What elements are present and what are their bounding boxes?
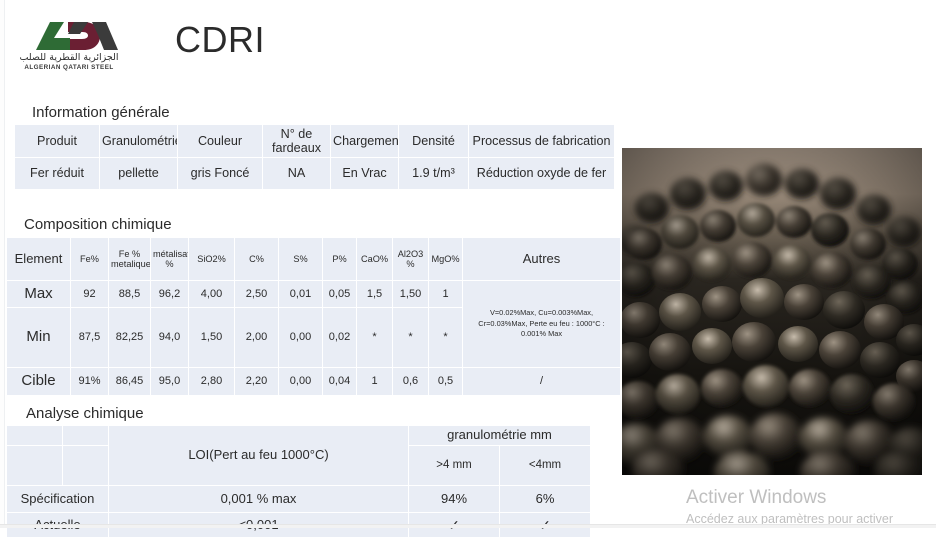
chem-header-element: Element	[7, 238, 71, 281]
chem-row-label-cible: Cible	[7, 368, 71, 396]
chem-autres-merged: V=0.02%Max, Cu=0.003%Max, Cr=0.03%Max, P…	[463, 281, 621, 368]
chem-cible-fe-metalique: 86,45	[109, 368, 151, 396]
chem-header-p: P%	[323, 238, 357, 281]
info-header-n-fardeaux: N° de fardeaux	[263, 125, 331, 158]
slide-bottom-bar	[0, 524, 936, 528]
chem-min-fe-metalique: 82,25	[109, 308, 151, 368]
logo-english-text: ALGERIAN QATARI STEEL	[14, 64, 124, 71]
chem-max-sio2: 4,00	[189, 281, 235, 308]
chem-header-fe: Fe%	[71, 238, 109, 281]
chem-header-cao: CaO%	[357, 238, 393, 281]
chem-row-label-min: Min	[7, 308, 71, 368]
table-row: Fer réduit pellette gris Foncé NA En Vra…	[15, 158, 615, 190]
company-logo: الجزائرية القطرية للصلب ALGERIAN QATARI …	[14, 18, 124, 76]
analyse-blank-a2	[7, 446, 63, 486]
analyse-specification-lt4: 6%	[500, 486, 591, 513]
info-header-granulometrie: Granulométrie	[100, 125, 178, 158]
chem-cible-metalisation: 95,0	[151, 368, 189, 396]
chem-max-al2o3: 1,50	[393, 281, 429, 308]
chem-min-s: 0,00	[279, 308, 323, 368]
info-header-couleur: Couleur	[178, 125, 263, 158]
analyse-chimique-table: LOI(Pert au feu 1000°C) granulométrie mm…	[6, 425, 591, 538]
chem-min-metalisation: 94,0	[151, 308, 189, 368]
section-caption-information-generale: Information générale	[32, 104, 170, 121]
chem-cible-al2o3: 0,6	[393, 368, 429, 396]
table-row: LOI(Pert au feu 1000°C) granulométrie mm	[7, 426, 591, 446]
analyse-blank-b1	[63, 426, 109, 446]
chem-cible-c: 2,20	[235, 368, 279, 396]
info-value-chargement: En Vrac	[331, 158, 399, 190]
chem-header-sio2: SiO2%	[189, 238, 235, 281]
chem-min-c: 2,00	[235, 308, 279, 368]
chem-header-s: S%	[279, 238, 323, 281]
info-value-n-fardeaux: NA	[263, 158, 331, 190]
info-header-densite: Densité	[399, 125, 469, 158]
info-value-densite: 1.9 t/m³	[399, 158, 469, 190]
info-header-produit: Produit	[15, 125, 100, 158]
photo-pellets-layer	[622, 148, 922, 475]
table-row: Max 92 88,5 96,2 4,00 2,50 0,01 0,05 1,5…	[7, 281, 621, 308]
information-generale-table: Produit Granulométrie Couleur N° de fard…	[14, 124, 615, 190]
analyse-header-granulometrie: granulométrie mm	[409, 426, 591, 446]
analyse-header-gt4mm: >4 mm	[409, 446, 500, 486]
chem-min-al2o3: *	[393, 308, 429, 368]
chem-max-cao: 1,5	[357, 281, 393, 308]
slide-canvas: الجزائرية القطرية للصلب ALGERIAN QATARI …	[0, 0, 936, 528]
table-row: Spécification 0,001 % max 94% 6%	[7, 486, 591, 513]
analyse-header-loi: LOI(Pert au feu 1000°C)	[109, 426, 409, 486]
chem-row-label-max: Max	[7, 281, 71, 308]
logo-arabic-text: الجزائرية القطرية للصلب	[14, 53, 124, 63]
slide-left-edge	[0, 0, 5, 528]
chem-cible-autres: /	[463, 368, 621, 396]
page-title: CDRI	[175, 22, 265, 58]
chem-min-mgo: *	[429, 308, 463, 368]
info-header-processus: Processus de fabrication	[469, 125, 615, 158]
chem-max-metalisation: 96,2	[151, 281, 189, 308]
chem-max-p: 0,05	[323, 281, 357, 308]
chem-header-autres: Autres	[463, 238, 621, 281]
chem-header-mgo: MgO%	[429, 238, 463, 281]
analyse-specification-loi: 0,001 % max	[109, 486, 409, 513]
table-row: Produit Granulométrie Couleur N° de fard…	[15, 125, 615, 158]
chem-header-c: C%	[235, 238, 279, 281]
analyse-blank-a1	[7, 426, 63, 446]
chem-min-fe: 87,5	[71, 308, 109, 368]
chem-header-fe-metalique: Fe % metalique	[109, 238, 151, 281]
chem-max-fe-metalique: 88,5	[109, 281, 151, 308]
chem-header-metalisation: métalisation %	[151, 238, 189, 281]
chem-max-mgo: 1	[429, 281, 463, 308]
chem-header-al2o3: Al2O3 %	[393, 238, 429, 281]
analyse-specification-gt4: 94%	[409, 486, 500, 513]
iron-pellets-photo	[622, 148, 922, 475]
section-caption-composition-chimique: Composition chimique	[24, 216, 172, 233]
chem-cible-s: 0,00	[279, 368, 323, 396]
analyse-blank-b2	[63, 446, 109, 486]
info-value-produit: Fer réduit	[15, 158, 100, 190]
chem-min-cao: *	[357, 308, 393, 368]
chem-max-fe: 92	[71, 281, 109, 308]
chem-cible-fe: 91%	[71, 368, 109, 396]
chem-cible-cao: 1	[357, 368, 393, 396]
watermark-title: Activer Windows	[686, 488, 936, 509]
table-row: Cible 91% 86,45 95,0 2,80 2,20 0,00 0,04…	[7, 368, 621, 396]
chem-min-sio2: 1,50	[189, 308, 235, 368]
chem-max-c: 2,50	[235, 281, 279, 308]
info-value-granulometrie: pellette	[100, 158, 178, 190]
info-value-processus: Réduction oxyde de fer	[469, 158, 615, 190]
section-caption-analyse-chimique: Analyse chimique	[26, 405, 144, 422]
info-value-couleur: gris Foncé	[178, 158, 263, 190]
info-header-chargement: Chargement	[331, 125, 399, 158]
logo-mark	[14, 18, 124, 52]
windows-activation-watermark: Activer Windows Accédez aux paramètres p…	[686, 488, 936, 526]
composition-chimique-table: Element Fe% Fe % metalique métalisation …	[6, 237, 621, 396]
analyse-header-lt4mm: <4mm	[500, 446, 591, 486]
chem-min-p: 0,02	[323, 308, 357, 368]
chem-cible-mgo: 0,5	[429, 368, 463, 396]
chem-cible-p: 0,04	[323, 368, 357, 396]
chem-max-s: 0,01	[279, 281, 323, 308]
chem-cible-sio2: 2,80	[189, 368, 235, 396]
analyse-row-label-specification: Spécification	[7, 486, 109, 513]
table-row: Element Fe% Fe % metalique métalisation …	[7, 238, 621, 281]
